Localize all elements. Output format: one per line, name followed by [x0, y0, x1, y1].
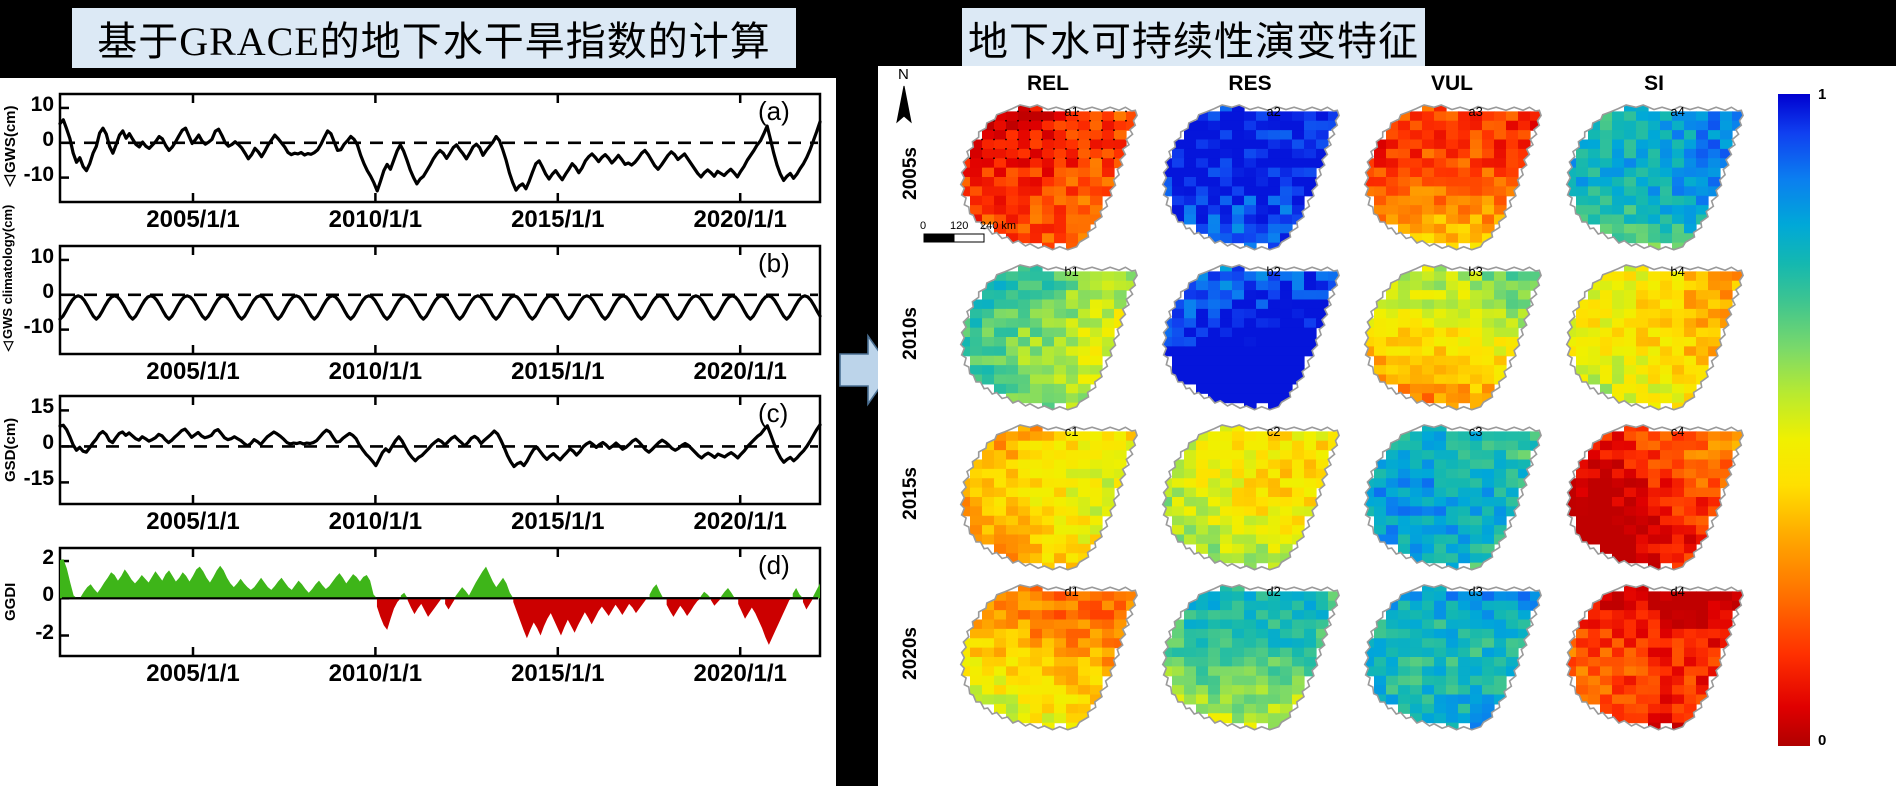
y-tick-0-0: 10 [16, 93, 54, 117]
right-title-text: 地下水可持续性演变特征 [968, 9, 1419, 67]
left-title-text: 基于GRACE的地下水干旱指数的计算 [97, 9, 771, 67]
x-tick-0-3: 2020/1/1 [655, 206, 825, 234]
x-tick-0-2: 2015/1/1 [473, 206, 643, 234]
x-tick-2-0: 2005/1/1 [108, 508, 278, 536]
x-tick-3-3: 2020/1/1 [655, 660, 825, 688]
y-tick-2-0: 15 [16, 395, 54, 419]
map-sublabel-0-1: a2 [1254, 104, 1294, 119]
y-tick-1-1: 0 [16, 280, 54, 304]
y-tick-1-2: -10 [16, 315, 54, 339]
map-row-label-2020s: 2020s [900, 627, 922, 680]
map-sublabel-3-1: d2 [1254, 584, 1294, 599]
map-sublabel-1-3: b4 [1658, 264, 1698, 279]
y-tick-3-0: 2 [16, 546, 54, 570]
colorbar-min-label: 0 [1818, 732, 1826, 749]
x-tick-2-3: 2020/1/1 [655, 508, 825, 536]
scale-bar-tick-1: 120 [950, 220, 968, 232]
scale-bar-tick-0: 0 [920, 220, 926, 232]
x-tick-3-0: 2005/1/1 [108, 660, 278, 688]
y-tick-2-2: -15 [16, 467, 54, 491]
maps-figure: a1a2a3a4b1b2b3b4c1c2c3c4d1d2d3d4RELRESVU… [878, 66, 1896, 786]
north-arrow-label: N [898, 66, 909, 83]
x-tick-1-0: 2005/1/1 [108, 358, 278, 386]
right-title-banner: 地下水可持续性演变特征 [962, 8, 1425, 68]
map-row-label-2005s: 2005s [900, 147, 922, 200]
y-tick-3-2: -2 [16, 621, 54, 645]
colorbar-max-label: 1 [1818, 86, 1826, 103]
map-sublabel-3-0: d1 [1052, 584, 1092, 599]
timeseries-figure: (a)△GWS(cm)100-102005/1/12010/1/12015/1/… [0, 78, 836, 786]
map-sublabel-1-2: b3 [1456, 264, 1496, 279]
map-sublabel-2-0: c1 [1052, 424, 1092, 439]
panel-tag-0: (a) [758, 96, 790, 127]
x-tick-2-1: 2010/1/1 [290, 508, 460, 536]
map-row-label-2015s: 2015s [900, 467, 922, 520]
map-sublabel-1-1: b2 [1254, 264, 1294, 279]
panel-tag-3: (d) [758, 550, 790, 581]
x-tick-1-2: 2015/1/1 [473, 358, 643, 386]
map-sublabel-1-0: b1 [1052, 264, 1092, 279]
x-tick-1-1: 2010/1/1 [290, 358, 460, 386]
map-sublabel-3-2: d3 [1456, 584, 1496, 599]
scale-bar-tick-2: 240 km [980, 220, 1016, 232]
y-tick-3-1: 0 [16, 583, 54, 607]
maps-svg [878, 66, 1896, 786]
x-tick-3-2: 2015/1/1 [473, 660, 643, 688]
map-sublabel-0-2: a3 [1456, 104, 1496, 119]
map-column-header-vul: VUL [1392, 72, 1512, 96]
map-column-header-rel: REL [988, 72, 1108, 96]
panel-tag-2: (c) [758, 398, 788, 429]
y-axis-label-1: △GWS climatology(cm) [0, 246, 15, 354]
left-title-banner: 基于GRACE的地下水干旱指数的计算 [72, 8, 796, 68]
y-tick-0-2: -10 [16, 163, 54, 187]
map-sublabel-3-3: d4 [1658, 584, 1698, 599]
y-tick-1-0: 10 [16, 245, 54, 269]
map-sublabel-2-3: c4 [1658, 424, 1698, 439]
x-tick-0-1: 2010/1/1 [290, 206, 460, 234]
map-sublabel-0-3: a4 [1658, 104, 1698, 119]
x-tick-3-1: 2010/1/1 [290, 660, 460, 688]
map-column-header-res: RES [1190, 72, 1310, 96]
map-row-label-2010s: 2010s [900, 307, 922, 360]
x-tick-2-2: 2015/1/1 [473, 508, 643, 536]
panel-tag-1: (b) [758, 248, 790, 279]
y-tick-2-1: 0 [16, 431, 54, 455]
map-sublabel-2-1: c2 [1254, 424, 1294, 439]
x-tick-1-3: 2020/1/1 [655, 358, 825, 386]
map-column-header-si: SI [1594, 72, 1714, 96]
x-tick-0-0: 2005/1/1 [108, 206, 278, 234]
slide-root: 基于GRACE的地下水干旱指数的计算 地下水可持续性演变特征 (a)△GWS(c… [0, 0, 1896, 786]
map-sublabel-2-2: c3 [1456, 424, 1496, 439]
map-sublabel-0-0: a1 [1052, 104, 1092, 119]
y-tick-0-1: 0 [16, 128, 54, 152]
